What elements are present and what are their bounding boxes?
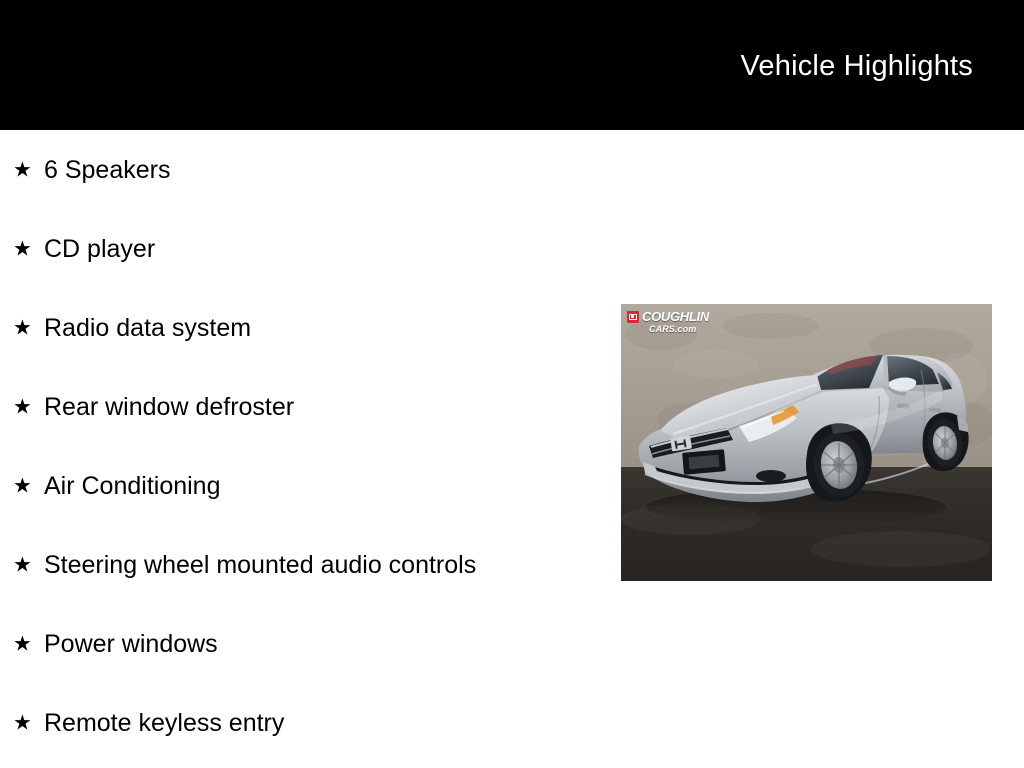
list-item-label: Power windows	[44, 629, 218, 659]
list-item: ★ Remote keyless entry	[0, 683, 620, 762]
vehicle-highlights-list: ★ 6 Speakers ★ CD player ★ Radio data sy…	[0, 130, 620, 762]
star-bullet-icon: ★	[13, 554, 32, 575]
page-title: Vehicle Highlights	[740, 49, 973, 83]
list-item-label: Rear window defroster	[44, 392, 294, 422]
list-item-label: 6 Speakers	[44, 155, 170, 185]
list-item-label: Steering wheel mounted audio controls	[44, 550, 476, 580]
star-bullet-icon: ★	[13, 475, 32, 496]
list-item: ★ Power windows	[0, 604, 620, 683]
list-item: ★ CD player	[0, 209, 620, 288]
list-item-label: Radio data system	[44, 313, 251, 343]
header-band: Vehicle Highlights	[0, 0, 1024, 130]
star-bullet-icon: ★	[13, 238, 32, 259]
list-item: ★ Rear window defroster	[0, 367, 620, 446]
star-bullet-icon: ★	[13, 712, 32, 733]
list-item: ★ Steering wheel mounted audio controls	[0, 525, 620, 604]
star-bullet-icon: ★	[13, 317, 32, 338]
star-bullet-icon: ★	[13, 396, 32, 417]
vehicle-photo: COUGHLIN CARS.com	[621, 304, 992, 581]
vehicle-photo-illustration	[621, 304, 992, 581]
list-item-label: Remote keyless entry	[44, 708, 284, 738]
star-bullet-icon: ★	[13, 159, 32, 180]
list-item: ★ Air Conditioning	[0, 446, 620, 525]
list-item-label: CD player	[44, 234, 155, 264]
list-item-label: Air Conditioning	[44, 471, 221, 501]
list-item: ★ 6 Speakers	[0, 130, 620, 209]
star-bullet-icon: ★	[13, 633, 32, 654]
list-item: ★ Radio data system	[0, 288, 620, 367]
